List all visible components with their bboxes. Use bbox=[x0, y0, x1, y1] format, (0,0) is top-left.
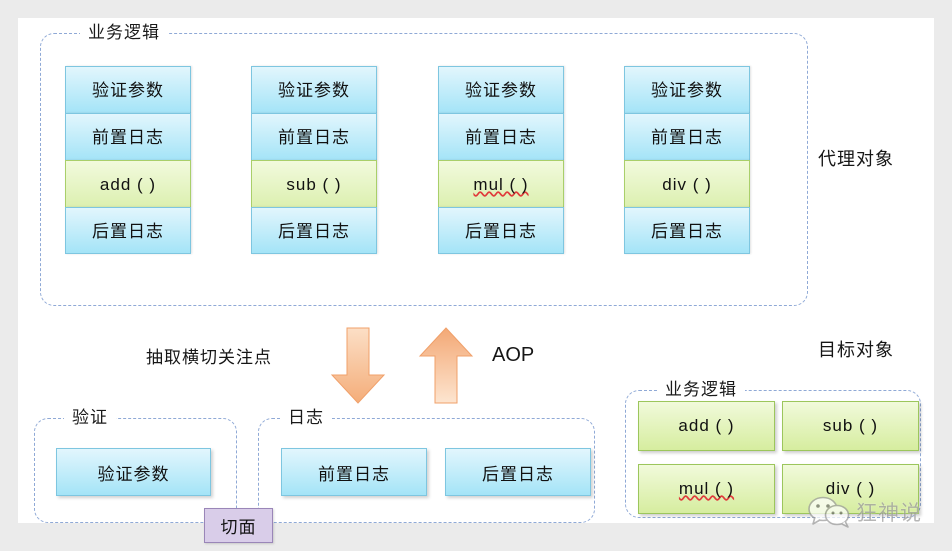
proxy-cell: 前置日志 bbox=[251, 113, 377, 160]
log-group-label: 日志 bbox=[280, 408, 332, 428]
proxy-column-div: 验证参数 前置日志 div ( ) 后置日志 bbox=[624, 66, 750, 254]
aop-label: AOP bbox=[492, 344, 534, 367]
after-log-box: 后置日志 bbox=[445, 448, 591, 496]
proxy-cell: 验证参数 bbox=[624, 66, 750, 113]
target-object-side-label: 目标对象 bbox=[818, 336, 894, 362]
proxy-cell: 验证参数 bbox=[438, 66, 564, 113]
proxy-object-side-label: 代理对象 bbox=[818, 145, 894, 171]
proxy-cell: 后置日志 bbox=[65, 207, 191, 254]
proxy-cell-method: mul ( ) bbox=[438, 160, 564, 207]
proxy-cell-method: sub ( ) bbox=[251, 160, 377, 207]
validate-group-label: 验证 bbox=[64, 408, 116, 428]
proxy-cell: 后置日志 bbox=[438, 207, 564, 254]
proxy-business-logic-label: 业务逻辑 bbox=[80, 23, 168, 43]
validate-params-box: 验证参数 bbox=[56, 448, 211, 496]
target-method-mul: mul ( ) bbox=[638, 464, 775, 514]
target-method-add: add ( ) bbox=[638, 401, 775, 451]
proxy-cell-method: div ( ) bbox=[624, 160, 750, 207]
proxy-cell: 后置日志 bbox=[251, 207, 377, 254]
wechat-icon bbox=[808, 496, 852, 528]
aspect-chip: 切面 bbox=[204, 508, 273, 543]
before-log-box: 前置日志 bbox=[281, 448, 427, 496]
proxy-column-add: 验证参数 前置日志 add ( ) 后置日志 bbox=[65, 66, 191, 254]
proxy-cell-method: add ( ) bbox=[65, 160, 191, 207]
target-method-sub: sub ( ) bbox=[782, 401, 919, 451]
up-arrow-icon bbox=[416, 326, 476, 406]
extract-concerns-label: 抽取横切关注点 bbox=[146, 343, 272, 368]
diagram-canvas: 业务逻辑 代理对象 验证参数 前置日志 add ( ) 后置日志 验证参数 前置… bbox=[18, 18, 934, 523]
watermark-text: 狂神说 bbox=[856, 497, 922, 527]
proxy-cell: 验证参数 bbox=[65, 66, 191, 113]
proxy-cell: 验证参数 bbox=[251, 66, 377, 113]
watermark: 狂神说 bbox=[808, 496, 922, 528]
proxy-cell: 前置日志 bbox=[624, 113, 750, 160]
proxy-column-sub: 验证参数 前置日志 sub ( ) 后置日志 bbox=[251, 66, 377, 254]
target-business-logic-label: 业务逻辑 bbox=[657, 380, 745, 400]
proxy-cell: 前置日志 bbox=[65, 113, 191, 160]
proxy-cell: 前置日志 bbox=[438, 113, 564, 160]
proxy-column-mul: 验证参数 前置日志 mul ( ) 后置日志 bbox=[438, 66, 564, 254]
down-arrow-icon bbox=[328, 326, 388, 406]
proxy-cell: 后置日志 bbox=[624, 207, 750, 254]
